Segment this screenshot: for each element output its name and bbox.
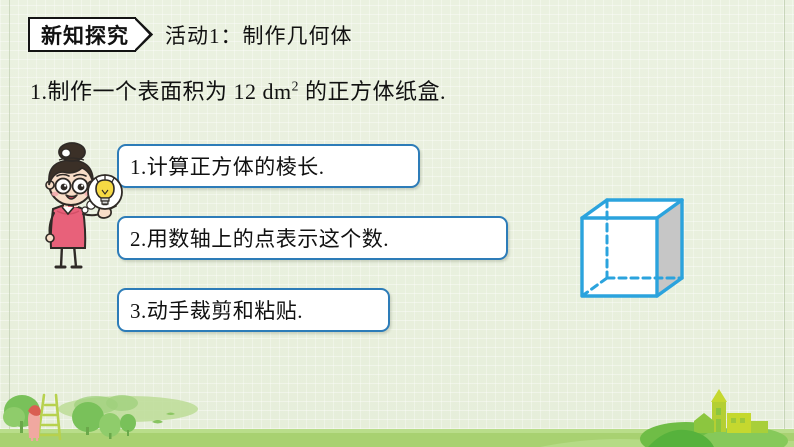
header-tag: 新知探究 <box>28 17 154 52</box>
task-box-1: 1.计算正方体的棱长. <box>117 144 420 188</box>
problem-unit: dm <box>263 79 292 104</box>
header-tag-arrow-icon <box>135 17 154 52</box>
problem-statement: 1.制作一个表面积为 12 dm2 的正方体纸盒. <box>30 74 446 106</box>
problem-suffix: 的正方体纸盒. <box>299 79 446 104</box>
problem-prefix: 1.制作一个表面积为 <box>30 79 234 104</box>
task-label-3: 3.动手裁剪和粘贴. <box>130 295 303 325</box>
task-box-3: 3.动手裁剪和粘贴. <box>117 288 390 332</box>
cube-diagram <box>570 188 705 310</box>
header-tag-label: 新知探究 <box>28 17 136 52</box>
problem-value: 12 <box>234 79 257 104</box>
section-header: 新知探究 活动1：制作几何体 <box>28 17 353 52</box>
green-landscape-band <box>0 377 794 447</box>
lightbulb-idea-bubble <box>80 170 126 220</box>
slide-canvas: 新知探究 活动1：制作几何体 1.制作一个表面积为 12 dm2 的正方体纸盒.… <box>0 0 794 447</box>
task-box-2: 2.用数轴上的点表示这个数. <box>117 216 508 260</box>
problem-exponent: 2 <box>292 79 299 94</box>
header-title: 活动1：制作几何体 <box>165 20 353 50</box>
task-label-1: 1.计算正方体的棱长. <box>130 151 325 181</box>
task-label-2: 2.用数轴上的点表示这个数. <box>130 223 389 253</box>
right-margin-rule <box>784 0 785 447</box>
left-margin-rule <box>9 0 10 447</box>
